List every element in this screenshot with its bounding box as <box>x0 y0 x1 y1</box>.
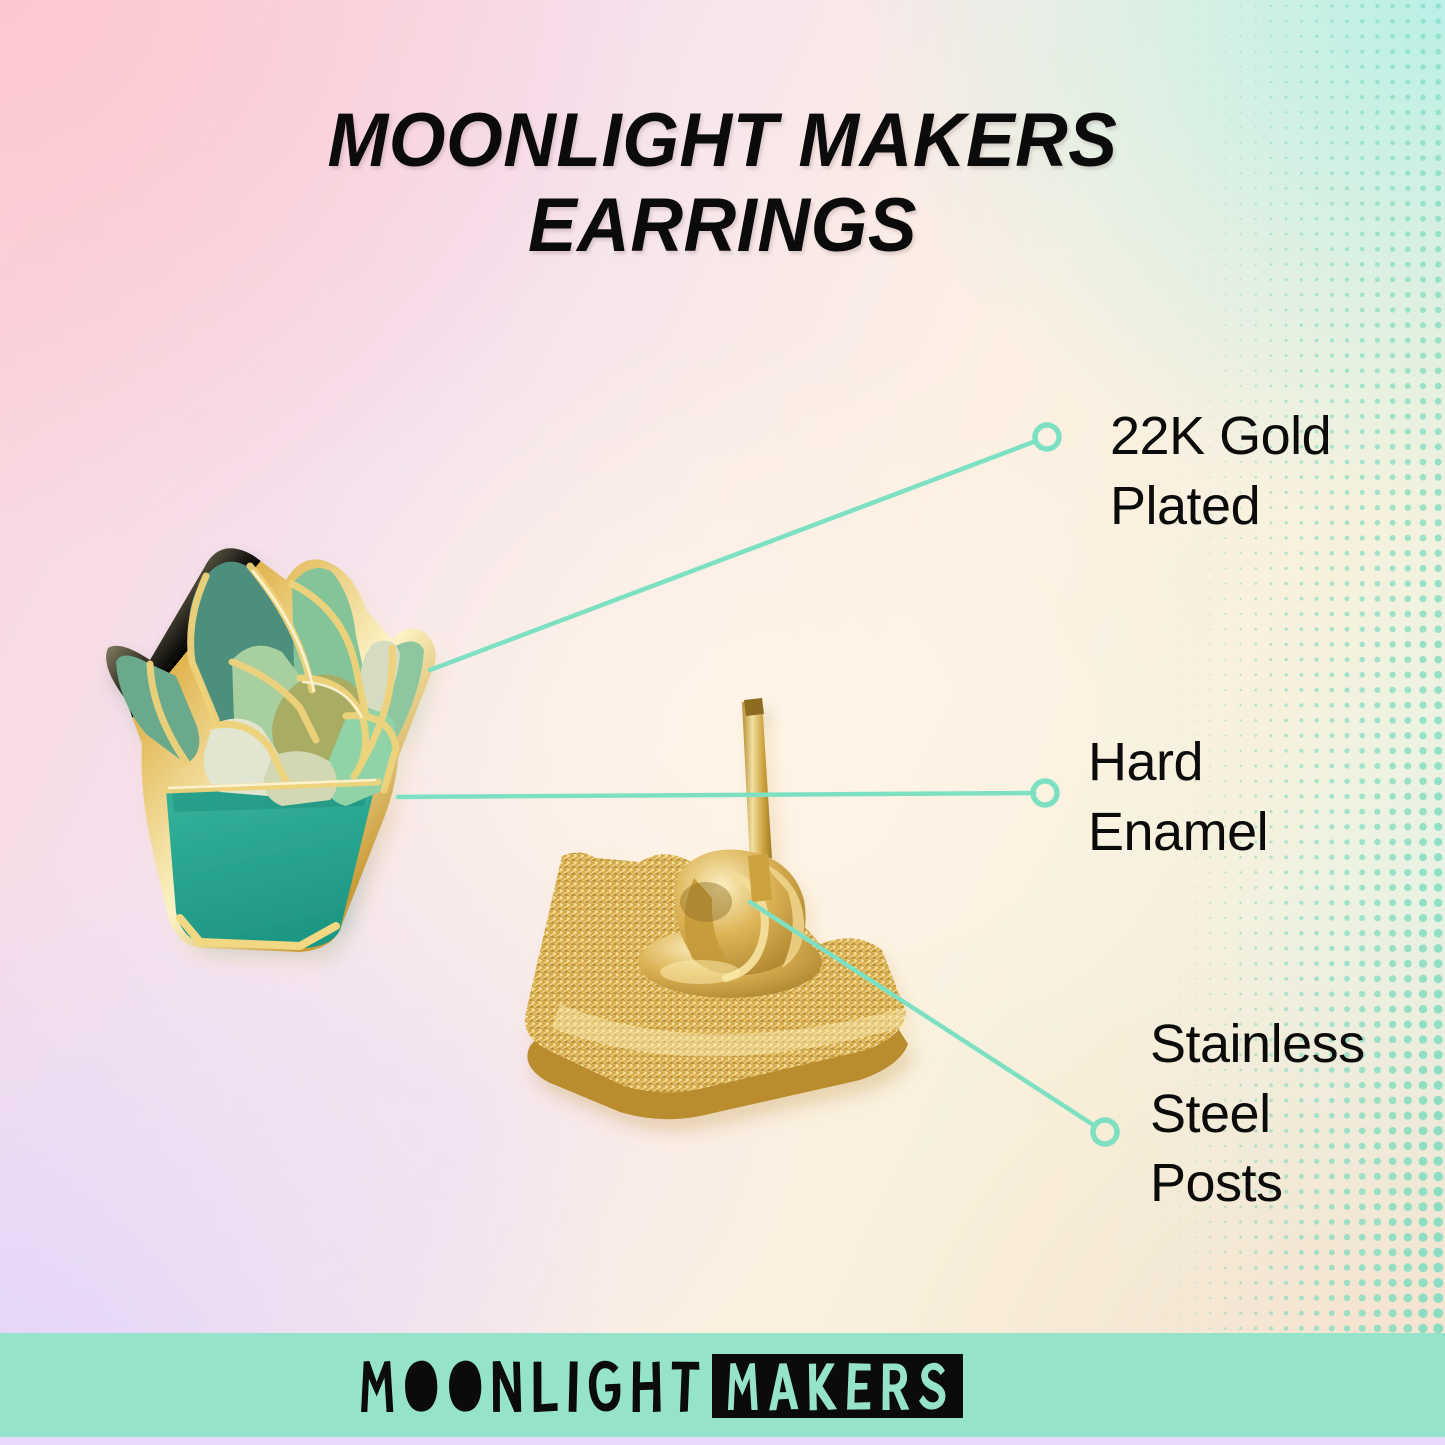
product-infographic: MOONLIGHT MAKERS EARRINGS <box>0 0 1445 1445</box>
logo-letter-l <box>533 1361 558 1412</box>
brand-logo <box>0 1352 1445 1420</box>
logo-letter-o <box>448 1360 482 1412</box>
feature-label-gold-plated: 22K Gold Plated <box>1110 402 1331 541</box>
brand-logo-mark <box>323 1348 1123 1424</box>
title-line-1: MOONLIGHT MAKERS <box>29 98 1416 183</box>
logo-letter-i <box>568 1361 577 1412</box>
logo-letter-n <box>492 1361 522 1412</box>
title-line-2: EARRINGS <box>29 183 1416 268</box>
feature-label-stainless-steel-posts: Stainless Steel Posts <box>1150 1010 1365 1219</box>
footer-bottom-strip <box>0 1437 1445 1445</box>
page-title: MOONLIGHT MAKERS EARRINGS <box>29 98 1416 268</box>
logo-letter-t <box>670 1361 699 1412</box>
feature-label-hard-enamel: Hard Enamel <box>1088 728 1268 867</box>
logo-letter-h <box>632 1362 660 1412</box>
logo-letter-o <box>404 1360 438 1412</box>
logo-letter-g <box>588 1361 620 1412</box>
logo-letter-m <box>361 1361 393 1412</box>
